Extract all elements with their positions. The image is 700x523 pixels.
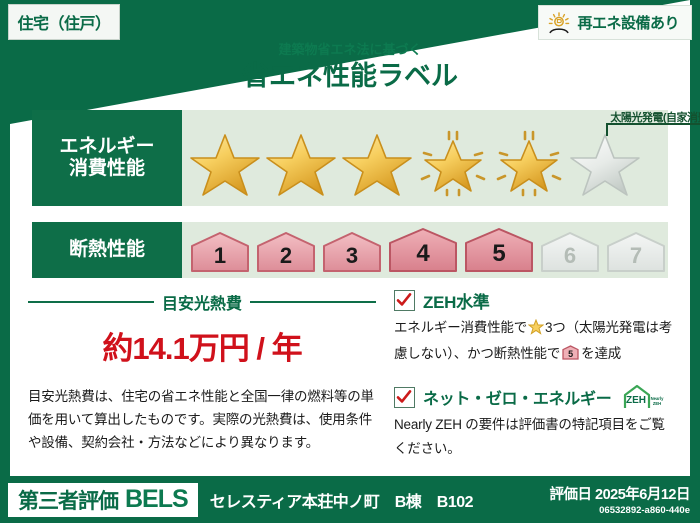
insulation-house-1-label: 1 xyxy=(214,245,226,274)
inline-house-icon: 5 xyxy=(562,348,579,363)
page-title: 省エネ性能ラベル xyxy=(0,60,700,92)
zeh-column: ZEH水準 エネルギー消費性能で3つ（太陽光発電は考慮しない）、かつ断熱性能で5… xyxy=(394,288,676,471)
energy-panel-body: 太陽光発電(自家消費)分 xyxy=(182,110,668,206)
title-block: 建築物省エネ法に基づく 省エネ性能ラベル xyxy=(0,42,700,92)
evaluation-id: 06532892-a860-440e xyxy=(550,505,690,516)
insulation-house-7: 7 xyxy=(604,230,668,274)
energy-panel-label: エネルギー 消費性能 xyxy=(32,110,182,206)
cost-heading: 目安光熱費 xyxy=(162,290,242,314)
building-name: セレスティア本荘中ノ町 B棟 B102 xyxy=(210,488,473,512)
zeh-body-star-count: 3つ xyxy=(545,320,566,335)
insulation-house-3-label: 3 xyxy=(346,245,358,274)
zeh-standard-heading: ZEH水準 xyxy=(423,288,490,313)
insulation-house-4: 4 xyxy=(386,226,460,274)
svg-text:ZEH: ZEH xyxy=(653,401,661,406)
zeh-body-part1: エネルギー消費性能で xyxy=(394,320,527,335)
insulation-house-5-label: 5 xyxy=(492,242,505,274)
insulation-house-6: 6 xyxy=(538,230,602,274)
insulation-house-4-label: 4 xyxy=(416,242,429,274)
insulation-level-row: 1 2 3 xyxy=(182,226,668,274)
category-chip-label: 住宅（住戸） xyxy=(17,10,110,34)
insulation-house-1: 1 xyxy=(188,230,252,274)
sun-icon xyxy=(547,12,571,34)
insulation-house-2: 2 xyxy=(254,230,318,274)
energy-performance-panel: エネルギー 消費性能 太陽光発電(自家消費)分 xyxy=(32,110,668,206)
energy-label-line1: エネルギー xyxy=(59,136,154,158)
insulation-label-text: 断熱性能 xyxy=(69,239,145,261)
insulation-house-2-label: 2 xyxy=(280,245,292,274)
category-chip: 住宅（住戸） xyxy=(8,4,120,40)
net-zero-energy-row: ネット・ゼロ・エネルギー ZEH Nearly ZEH xyxy=(394,384,676,410)
title-subtitle: 建築物省エネ法に基づく xyxy=(0,42,700,58)
insulation-panel-label: 断熱性能 xyxy=(32,222,182,278)
bels-label-root: 住宅（住戸） 再エネ設備あり 建築物省エネ法に基づく xyxy=(0,0,700,523)
insulation-house-6-label: 6 xyxy=(564,245,576,274)
zeh-standard-row: ZEH水準 xyxy=(394,288,676,313)
bels-jp-label: 第三者評価 xyxy=(18,485,118,515)
zeh-logo-icon: ZEH Nearly ZEH xyxy=(621,384,665,410)
zeh-standard-checkbox[interactable] xyxy=(394,290,415,311)
evaluation-date: 評価日 2025年6月12日 xyxy=(550,483,690,504)
star-icon-6-empty xyxy=(568,127,642,197)
cost-rule-right xyxy=(250,301,376,303)
star-icon-4-solar xyxy=(416,127,490,197)
bels-en-label: BELS xyxy=(125,485,188,514)
inline-star-icon xyxy=(528,323,544,338)
insulation-house-3: 3 xyxy=(320,230,384,274)
zeh-body-part3: を達成 xyxy=(581,346,621,361)
zeh-standard-body: エネルギー消費性能で3つ（太陽光発電は考慮しない）、かつ断熱性能で5を達成 xyxy=(394,316,676,367)
solar-bracket-label: 太陽光発電(自家消費)分 xyxy=(580,109,700,125)
insulation-performance-panel: 断熱性能 1 2 xyxy=(32,222,668,278)
star-icon-3 xyxy=(340,127,414,197)
cost-value: 約14.1万円 / 年 xyxy=(28,323,376,368)
star-rating xyxy=(182,127,642,197)
net-zero-energy-body: Nearly ZEH の要件は評価書の特記項目をご覧ください。 xyxy=(394,413,676,459)
lower-section: 目安光熱費 約14.1万円 / 年 目安光熱費は、住宅の省エネ性能と全国一律の燃… xyxy=(28,288,676,471)
cost-rule-left xyxy=(28,301,154,303)
svg-text:ZEH: ZEH xyxy=(626,395,646,406)
star-icon-1 xyxy=(188,127,262,197)
evaluation-info: 評価日 2025年6月12日 06532892-a860-440e xyxy=(550,483,690,516)
star-icon-5-solar xyxy=(492,127,566,197)
net-zero-energy-heading: ネット・ゼロ・エネルギー xyxy=(423,385,611,409)
insulation-house-7-label: 7 xyxy=(630,245,642,274)
energy-label-line2: 消費性能 xyxy=(69,158,145,180)
insulation-panel-body: 1 2 3 xyxy=(182,222,668,278)
cost-heading-row: 目安光熱費 xyxy=(28,290,376,314)
footer-bar: 第三者評価 BELS セレスティア本荘中ノ町 B棟 B102 評価日 2025年… xyxy=(0,476,700,523)
svg-text:5: 5 xyxy=(568,349,573,359)
bels-certification-box: 第三者評価 BELS xyxy=(8,483,198,517)
insulation-house-5: 5 xyxy=(462,226,536,274)
net-zero-energy-checkbox[interactable] xyxy=(394,387,415,408)
star-icon-2 xyxy=(264,127,338,197)
cost-note: 目安光熱費は、住宅の省エネ性能と全国一律の燃料等の単価を用いて算出したものです。… xyxy=(28,385,376,455)
cost-column: 目安光熱費 約14.1万円 / 年 目安光熱費は、住宅の省エネ性能と全国一律の燃… xyxy=(28,288,376,471)
renewable-badge-label: 再エネ設備あり xyxy=(577,12,679,33)
renewable-energy-badge: 再エネ設備あり xyxy=(538,5,692,40)
